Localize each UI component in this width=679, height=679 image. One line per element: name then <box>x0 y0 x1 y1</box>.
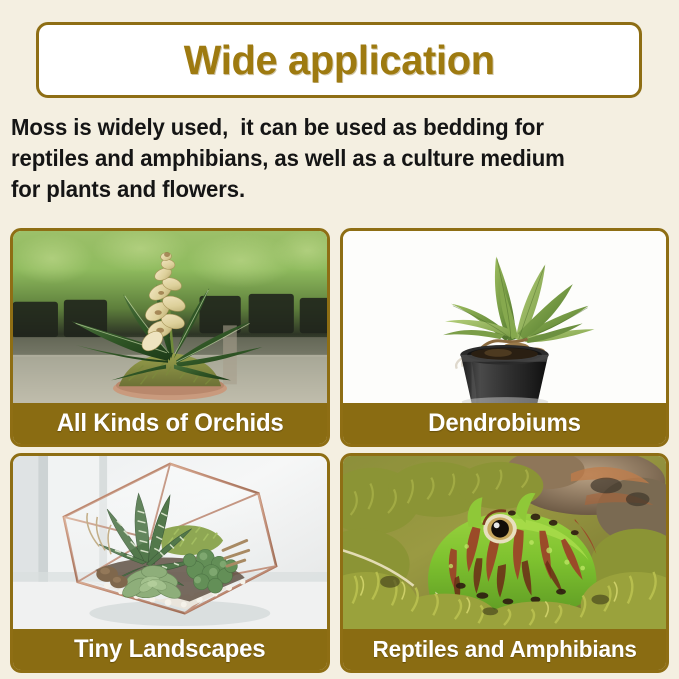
card-tiny-landscapes: Tiny Landscapes <box>10 453 330 673</box>
body-line-3: for plants and flowers. <box>11 174 647 205</box>
photo-dendrobiums <box>343 231 666 403</box>
caption-bar-dendrobiums: Dendrobiums <box>343 403 666 444</box>
body-line-2: reptiles and amphibians, as well as a cu… <box>11 143 647 174</box>
caption-dendrobiums: Dendrobiums <box>428 409 581 438</box>
card-orchids: All Kinds of Orchids <box>10 228 330 447</box>
body-line-1: Moss is widely used, it can be used as b… <box>11 112 647 143</box>
caption-reptiles: Reptiles and Amphibians <box>372 636 636 663</box>
title-banner: Wide application <box>36 22 642 98</box>
horned-frog-illustration <box>343 456 666 629</box>
page-title: Wide application <box>184 37 495 84</box>
caption-tiny-landscapes: Tiny Landscapes <box>74 635 265 664</box>
caption-orchids: All Kinds of Orchids <box>57 409 284 438</box>
body-paragraph: Moss is widely used, it can be used as b… <box>11 112 647 205</box>
photo-tiny-landscapes <box>13 456 327 629</box>
card-dendrobiums: Dendrobiums <box>340 228 669 447</box>
caption-bar-orchids: All Kinds of Orchids <box>13 403 327 444</box>
photo-reptiles <box>343 456 666 629</box>
caption-bar-tiny-landscapes: Tiny Landscapes <box>13 629 327 670</box>
caption-bar-reptiles: Reptiles and Amphibians <box>343 629 666 670</box>
infographic-page: Wide application Moss is widely used, it… <box>0 0 679 679</box>
application-card-grid: All Kinds of Orchids <box>10 228 669 673</box>
dendrobium-illustration <box>343 231 666 403</box>
card-reptiles: Reptiles and Amphibians <box>340 453 669 673</box>
terrarium-illustration <box>13 456 327 629</box>
orchid-illustration <box>13 231 327 403</box>
photo-orchids <box>13 231 327 403</box>
